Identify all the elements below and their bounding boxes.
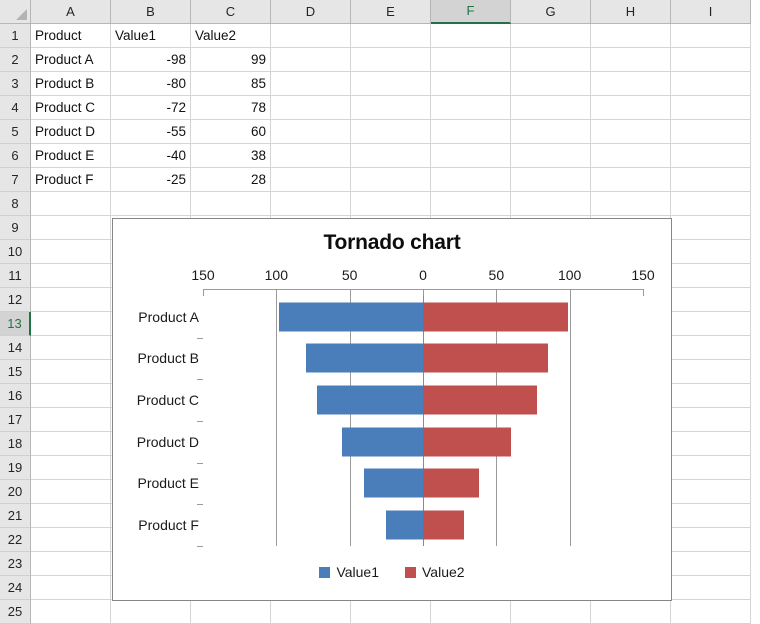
cell-empty-G5[interactable]: [511, 120, 591, 144]
cell-empty-G25[interactable]: [511, 600, 591, 624]
cell-empty-F5[interactable]: [431, 120, 511, 144]
legend-item[interactable]: Value2: [405, 564, 465, 580]
cell-A6[interactable]: Product E: [31, 144, 111, 168]
cell-empty-A25[interactable]: [31, 600, 111, 624]
cell-A1[interactable]: Product: [31, 24, 111, 48]
row-header-23[interactable]: 23: [0, 552, 31, 576]
chart-legend[interactable]: Value1Value2: [113, 564, 671, 580]
cell-empty-C25[interactable]: [191, 600, 271, 624]
row-header-1[interactable]: 1: [0, 24, 31, 48]
chart-category-row: Product B: [113, 338, 671, 380]
category-label: Product A: [138, 309, 199, 325]
cell-B4[interactable]: -72: [111, 96, 191, 120]
row-header-19[interactable]: 19: [0, 456, 31, 480]
x-tick-1: [276, 289, 277, 296]
cell-empty-I16[interactable]: [671, 384, 751, 408]
row-header-2[interactable]: 2: [0, 48, 31, 72]
cell-empty-E4[interactable]: [351, 96, 431, 120]
cell-A4[interactable]: Product C: [31, 96, 111, 120]
cell-empty-I5[interactable]: [671, 120, 751, 144]
cell-empty-H5[interactable]: [591, 120, 671, 144]
cell-empty-D8[interactable]: [271, 192, 351, 216]
row-header-22[interactable]: 22: [0, 528, 31, 552]
bar-value1[interactable]: [364, 469, 423, 498]
cell-empty-G2[interactable]: [511, 48, 591, 72]
cell-empty-G6[interactable]: [511, 144, 591, 168]
row-header-3[interactable]: 3: [0, 72, 31, 96]
cell-empty-G4[interactable]: [511, 96, 591, 120]
row-header-4[interactable]: 4: [0, 96, 31, 120]
cell-B7[interactable]: -25: [111, 168, 191, 192]
column-header-c[interactable]: C: [191, 0, 271, 24]
cell-empty-F2[interactable]: [431, 48, 511, 72]
column-header-i[interactable]: I: [671, 0, 751, 24]
row-header-6[interactable]: 6: [0, 144, 31, 168]
cell-empty-A11[interactable]: [31, 264, 111, 288]
cell-empty-A20[interactable]: [31, 480, 111, 504]
plot-area: Product AProduct BProduct CProduct DProd…: [113, 296, 671, 546]
cell-empty-H7[interactable]: [591, 168, 671, 192]
cell-empty-F25[interactable]: [431, 600, 511, 624]
column-header-e[interactable]: E: [351, 0, 431, 24]
cell-empty-I24[interactable]: [671, 576, 751, 600]
cell-empty-E8[interactable]: [351, 192, 431, 216]
cell-A2[interactable]: Product A: [31, 48, 111, 72]
cell-empty-G7[interactable]: [511, 168, 591, 192]
cell-empty-I1[interactable]: [671, 24, 751, 48]
cell-empty-I18[interactable]: [671, 432, 751, 456]
cell-empty-D25[interactable]: [271, 600, 351, 624]
cell-empty-A9[interactable]: [31, 216, 111, 240]
cell-empty-D5[interactable]: [271, 120, 351, 144]
x-tick-label-3: 0: [393, 267, 453, 283]
cell-empty-F8[interactable]: [431, 192, 511, 216]
cell-empty-I20[interactable]: [671, 480, 751, 504]
cell-empty-A17[interactable]: [31, 408, 111, 432]
cell-empty-F6[interactable]: [431, 144, 511, 168]
cell-empty-E3[interactable]: [351, 72, 431, 96]
category-label-box: Product F: [113, 504, 199, 546]
cell-empty-D4[interactable]: [271, 96, 351, 120]
bar-value2[interactable]: [423, 302, 568, 331]
cell-C4[interactable]: 78: [191, 96, 271, 120]
cell-B1[interactable]: Value1: [111, 24, 191, 48]
category-label: Product E: [138, 475, 199, 491]
row-header-15[interactable]: 15: [0, 360, 31, 384]
cell-C6[interactable]: 38: [191, 144, 271, 168]
row-header-24[interactable]: 24: [0, 576, 31, 600]
legend-label: Value1: [336, 564, 379, 580]
chart-category-row: Product E: [113, 463, 671, 505]
category-label: Product C: [137, 392, 199, 408]
bar-value1[interactable]: [306, 344, 423, 373]
row-header-20[interactable]: 20: [0, 480, 31, 504]
cell-empty-I11[interactable]: [671, 264, 751, 288]
x-tick-label-1: 100: [246, 267, 306, 283]
select-all-button[interactable]: [0, 0, 31, 24]
cell-empty-F4[interactable]: [431, 96, 511, 120]
bar-value2[interactable]: [423, 469, 479, 498]
legend-swatch-icon: [319, 567, 330, 578]
cell-empty-A24[interactable]: [31, 576, 111, 600]
category-tick: [197, 546, 203, 547]
cell-B5[interactable]: -55: [111, 120, 191, 144]
cell-empty-A16[interactable]: [31, 384, 111, 408]
row-header-9[interactable]: 9: [0, 216, 31, 240]
chart-category-row: Product D: [113, 421, 671, 463]
row-header-18[interactable]: 18: [0, 432, 31, 456]
cell-B6[interactable]: -40: [111, 144, 191, 168]
spreadsheet-app: ABCDEFGHI 123456789101112131415161718192…: [0, 0, 760, 614]
bar-value2[interactable]: [423, 386, 537, 415]
cell-C7[interactable]: 28: [191, 168, 271, 192]
chart-title: Tornado chart: [113, 231, 671, 255]
cell-empty-B8[interactable]: [111, 192, 191, 216]
column-header-a[interactable]: A: [31, 0, 111, 24]
cell-empty-A22[interactable]: [31, 528, 111, 552]
x-tick-label-2: 50: [320, 267, 380, 283]
row-header-11[interactable]: 11: [0, 264, 31, 288]
legend-item[interactable]: Value1: [319, 564, 379, 580]
row-header-16[interactable]: 16: [0, 384, 31, 408]
cell-empty-A18[interactable]: [31, 432, 111, 456]
cell-empty-I17[interactable]: [671, 408, 751, 432]
cell-empty-F1[interactable]: [431, 24, 511, 48]
category-label-box: Product A: [113, 296, 199, 338]
x-tick-0: [203, 289, 204, 296]
cell-empty-I14[interactable]: [671, 336, 751, 360]
x-tick-6: [643, 289, 644, 296]
cell-empty-A21[interactable]: [31, 504, 111, 528]
cell-empty-E5[interactable]: [351, 120, 431, 144]
cell-empty-I2[interactable]: [671, 48, 751, 72]
cell-empty-D3[interactable]: [271, 72, 351, 96]
cell-C2[interactable]: 99: [191, 48, 271, 72]
row-header-7[interactable]: 7: [0, 168, 31, 192]
cell-empty-H8[interactable]: [591, 192, 671, 216]
row-header-17[interactable]: 17: [0, 408, 31, 432]
cell-empty-A12[interactable]: [31, 288, 111, 312]
row-header-13[interactable]: 13: [0, 312, 31, 336]
cell-empty-I25[interactable]: [671, 600, 751, 624]
cell-B3[interactable]: -80: [111, 72, 191, 96]
cell-empty-I22[interactable]: [671, 528, 751, 552]
cell-empty-I4[interactable]: [671, 96, 751, 120]
cell-empty-I10[interactable]: [671, 240, 751, 264]
cell-empty-G8[interactable]: [511, 192, 591, 216]
x-tick-3: [423, 289, 424, 296]
bar-value1[interactable]: [317, 386, 423, 415]
cell-empty-I3[interactable]: [671, 72, 751, 96]
cell-A5[interactable]: Product D: [31, 120, 111, 144]
column-header-d[interactable]: D: [271, 0, 351, 24]
cell-empty-I21[interactable]: [671, 504, 751, 528]
category-label: Product F: [138, 517, 199, 533]
row-header-12[interactable]: 12: [0, 288, 31, 312]
cell-empty-E7[interactable]: [351, 168, 431, 192]
cell-empty-A13[interactable]: [31, 312, 111, 336]
cell-empty-I19[interactable]: [671, 456, 751, 480]
column-header-b[interactable]: B: [111, 0, 191, 24]
column-header-h[interactable]: H: [591, 0, 671, 24]
x-tick-label-4: 50: [466, 267, 526, 283]
cell-empty-I12[interactable]: [671, 288, 751, 312]
chart-category-row: Product F: [113, 504, 671, 546]
cell-empty-I9[interactable]: [671, 216, 751, 240]
category-label: Product B: [138, 350, 199, 366]
select-all-triangle-icon: [16, 9, 27, 20]
cell-empty-E6[interactable]: [351, 144, 431, 168]
row-header-21[interactable]: 21: [0, 504, 31, 528]
cell-empty-D7[interactable]: [271, 168, 351, 192]
column-header-g[interactable]: G: [511, 0, 591, 24]
cell-empty-H1[interactable]: [591, 24, 671, 48]
cell-B2[interactable]: -98: [111, 48, 191, 72]
cell-empty-I8[interactable]: [671, 192, 751, 216]
cell-C1[interactable]: Value2: [191, 24, 271, 48]
cell-empty-E25[interactable]: [351, 600, 431, 624]
row-header-10[interactable]: 10: [0, 240, 31, 264]
cell-C3[interactable]: 85: [191, 72, 271, 96]
legend-swatch-icon: [405, 567, 416, 578]
x-tick-4: [496, 289, 497, 296]
cell-empty-H2[interactable]: [591, 48, 671, 72]
cell-empty-G3[interactable]: [511, 72, 591, 96]
x-tick-2: [350, 289, 351, 296]
cell-empty-C8[interactable]: [191, 192, 271, 216]
cell-empty-A19[interactable]: [31, 456, 111, 480]
cell-empty-E2[interactable]: [351, 48, 431, 72]
column-header-f[interactable]: F: [431, 0, 511, 24]
x-tick-label-5: 100: [540, 267, 600, 283]
cell-empty-B25[interactable]: [111, 600, 191, 624]
cell-empty-E1[interactable]: [351, 24, 431, 48]
cell-empty-A8[interactable]: [31, 192, 111, 216]
bar-value1[interactable]: [342, 427, 423, 456]
cell-empty-A10[interactable]: [31, 240, 111, 264]
category-label-box: Product B: [113, 338, 199, 380]
row-header-5[interactable]: 5: [0, 120, 31, 144]
cell-A7[interactable]: Product F: [31, 168, 111, 192]
row-header-14[interactable]: 14: [0, 336, 31, 360]
cell-empty-H6[interactable]: [591, 144, 671, 168]
cell-empty-F3[interactable]: [431, 72, 511, 96]
bar-value1[interactable]: [386, 511, 423, 540]
chart-category-row: Product A: [113, 296, 671, 338]
bar-value2[interactable]: [423, 344, 548, 373]
cell-empty-A23[interactable]: [31, 552, 111, 576]
category-label-box: Product D: [113, 421, 199, 463]
cell-empty-I7[interactable]: [671, 168, 751, 192]
x-tick-label-0: 150: [173, 267, 233, 283]
cell-empty-A15[interactable]: [31, 360, 111, 384]
category-label: Product D: [137, 434, 199, 450]
cell-empty-H3[interactable]: [591, 72, 671, 96]
row-header-8[interactable]: 8: [0, 192, 31, 216]
x-tick-label-6: 150: [613, 267, 672, 283]
bar-value2[interactable]: [423, 427, 511, 456]
cell-empty-H4[interactable]: [591, 96, 671, 120]
cell-empty-H25[interactable]: [591, 600, 671, 624]
cell-empty-I13[interactable]: [671, 312, 751, 336]
cell-empty-D2[interactable]: [271, 48, 351, 72]
legend-label: Value2: [422, 564, 465, 580]
category-label-box: Product C: [113, 379, 199, 421]
cell-empty-G1[interactable]: [511, 24, 591, 48]
cell-empty-D6[interactable]: [271, 144, 351, 168]
row-header-25[interactable]: 25: [0, 600, 31, 624]
cell-C5[interactable]: 60: [191, 120, 271, 144]
cell-empty-D1[interactable]: [271, 24, 351, 48]
cell-empty-F7[interactable]: [431, 168, 511, 192]
x-tick-5: [570, 289, 571, 296]
cell-A3[interactable]: Product B: [31, 72, 111, 96]
bar-value1[interactable]: [279, 302, 423, 331]
cell-empty-A14[interactable]: [31, 336, 111, 360]
cell-empty-I15[interactable]: [671, 360, 751, 384]
tornado-chart[interactable]: Tornado chart 15010050050100150 Product …: [112, 218, 672, 601]
category-label-box: Product E: [113, 463, 199, 505]
cell-empty-I6[interactable]: [671, 144, 751, 168]
cell-empty-I23[interactable]: [671, 552, 751, 576]
bar-value2[interactable]: [423, 511, 464, 540]
chart-category-row: Product C: [113, 379, 671, 421]
